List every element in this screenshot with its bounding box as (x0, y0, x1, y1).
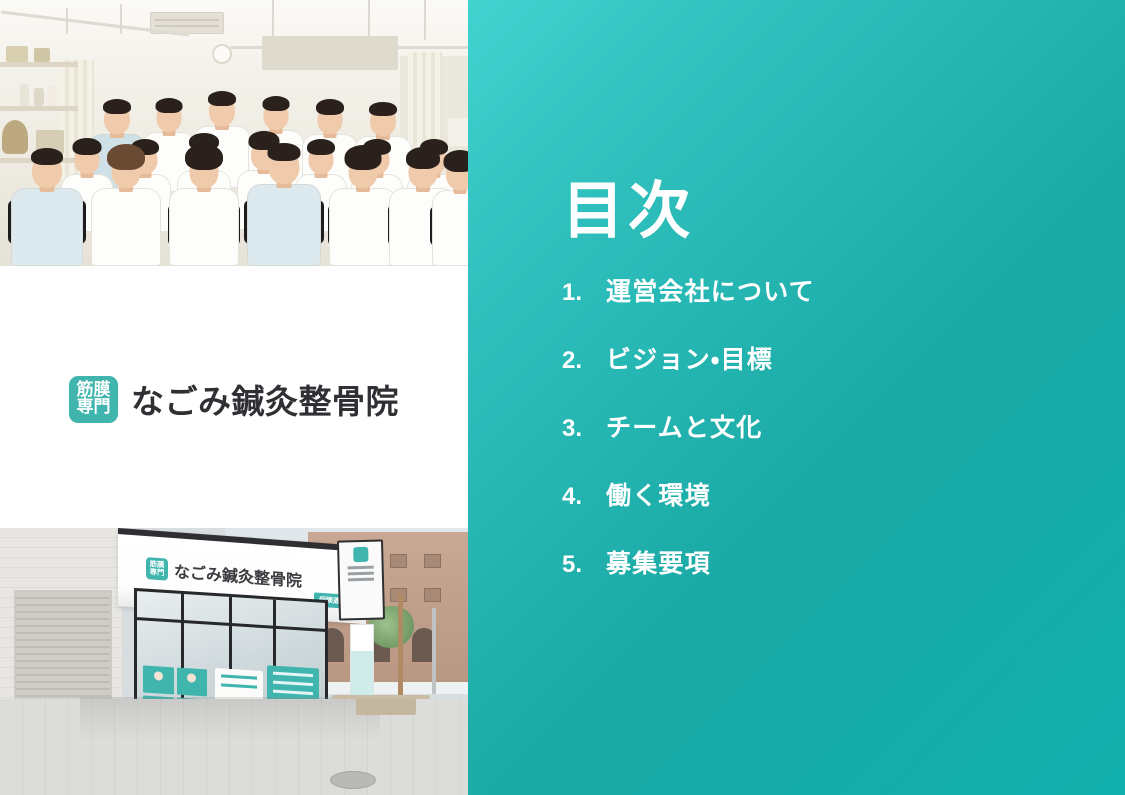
toc-item-number: 5. (562, 551, 606, 579)
person-front-2 (88, 138, 164, 266)
ground-shadow (80, 697, 380, 741)
street-pole (432, 608, 436, 694)
projecting-sign-badge (353, 547, 368, 562)
ceiling-rod (120, 4, 122, 34)
left-media-column: 筋膜 専門 なごみ鍼灸整骨院 (0, 0, 468, 795)
projecting-sign (337, 539, 385, 620)
poster-cell (177, 668, 208, 696)
person-front-3 (166, 138, 242, 266)
storefront-sign-text: なごみ鍼灸整骨院 (174, 558, 302, 591)
storefront-sign-badge-line2: 専門 (150, 569, 165, 577)
toc-item-label: 働く環境 (606, 476, 711, 512)
projecting-sign-line (348, 578, 374, 582)
projecting-sign-line (348, 572, 374, 576)
slide-root: 筋膜 専門 なごみ鍼灸整骨院 (0, 0, 1125, 795)
logo-badge-line2: 専門 (77, 399, 111, 417)
projecting-sign-line (348, 566, 374, 570)
team-photo (0, 0, 468, 266)
logo-band: 筋膜 専門 なごみ鍼灸整骨院 (0, 266, 468, 528)
storefront-photo: 筋膜 専門 なごみ鍼灸整骨院 保険適用 (0, 528, 468, 795)
toc-item-1[interactable]: 1. 運営会社について (562, 272, 815, 340)
toc-item-number: 2. (562, 347, 606, 375)
toc-list: 1. 運営会社について 2. ビジョン・目標 3. チームと文化 4. 働く環境… (562, 272, 815, 612)
poster-cell (143, 665, 174, 693)
wall-clock-icon (212, 44, 232, 64)
storefront-sign-badge: 筋膜 専門 (146, 557, 168, 581)
toc-item-label: ビジョン・目標 (606, 340, 773, 376)
ceiling-rod (424, 0, 426, 40)
toc-item-number: 3. (562, 415, 606, 443)
toc-item-2[interactable]: 2. ビジョン・目標 (562, 340, 815, 408)
wall-panel (262, 36, 398, 70)
toc-item-label: 運営会社について (606, 272, 815, 308)
toc-item-3[interactable]: 3. チームと文化 (562, 408, 815, 476)
toc-item-label: チームと文化 (606, 408, 762, 444)
toc-item-4[interactable]: 4. 働く環境 (562, 476, 815, 544)
clinic-logo: 筋膜 専門 なごみ鍼灸整骨院 (69, 375, 399, 423)
manhole-cover (330, 771, 376, 789)
toc-item-number: 1. (562, 279, 606, 307)
guardrail-post (356, 699, 416, 715)
ceiling-rod (66, 8, 68, 34)
toc-panel: 目次 1. 運営会社について 2. ビジョン・目標 3. チームと文化 4. 働… (468, 0, 1125, 795)
storefront-sign-logo: 筋膜 専門 なごみ鍼灸整骨院 (146, 556, 302, 591)
person-front-4 (244, 132, 324, 266)
logo-clinic-name: なごみ鍼灸整骨院 (131, 375, 399, 423)
person-front-7 (430, 140, 468, 266)
page-title: 目次 (562, 180, 694, 242)
logo-badge-specialty: 筋膜 専門 (69, 376, 118, 423)
toc-item-5[interactable]: 5. 募集要項 (562, 544, 815, 612)
utility-pole (398, 594, 403, 704)
toc-item-label: 募集要項 (606, 544, 711, 580)
toc-item-number: 4. (562, 483, 606, 511)
person-front-1 (8, 136, 86, 266)
